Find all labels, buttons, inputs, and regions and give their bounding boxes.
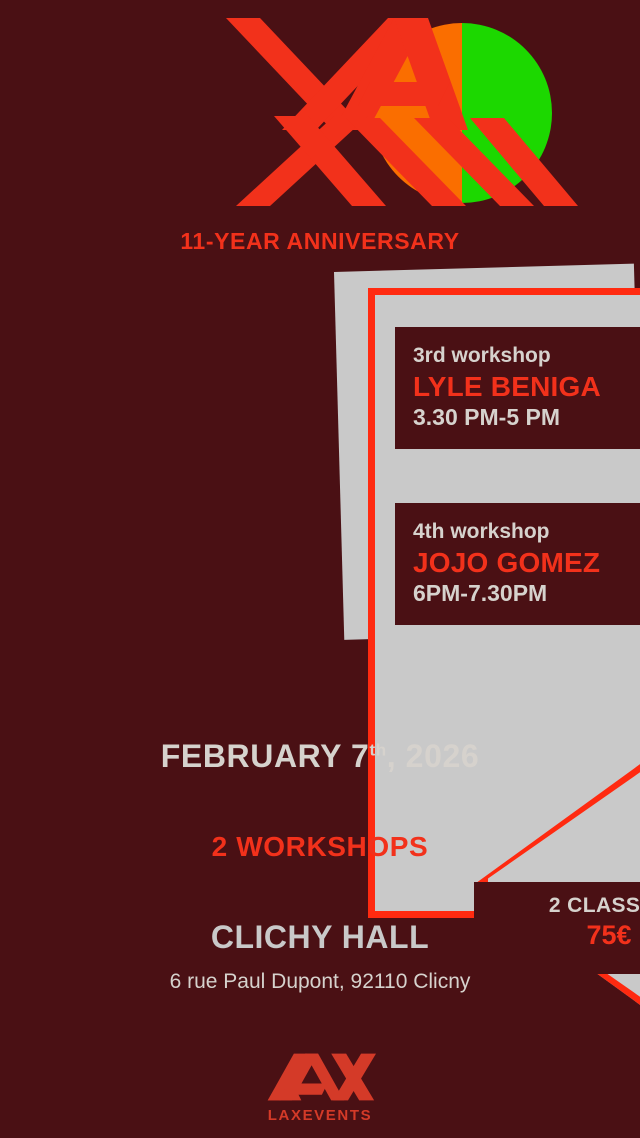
event-date-monthday: FEBRUARY 7 [161, 738, 370, 774]
venue-name: CLICHY HALL [0, 919, 640, 956]
anniversary-label: 11-YEAR ANNIVERSARY [0, 228, 640, 255]
event-info-block: FEBRUARY 7th, 2026 2 WORKSHOPS CLICHY HA… [0, 738, 640, 994]
venue-address: 6 rue Paul Dupont, 92110 Clicny [0, 970, 640, 994]
workshop-card-stack: 3rd workshop LYLE BENIGA 3.30 PM-5 PM 4t… [334, 272, 640, 647]
workshop-time: 3.30 PM-5 PM [413, 403, 640, 431]
workshop-kicker: 3rd workshop [413, 343, 640, 370]
event-poster: 11-YEAR ANNIVERSARY 3rd workshop LYLE BE… [0, 0, 640, 1138]
footer-wordmark: LAXEVENTS [0, 1107, 640, 1124]
footer-logo-block: LAXEVENTS [0, 1048, 640, 1124]
workshop-instructor: JOJO GOMEZ [413, 546, 640, 579]
workshop-kicker: 4th workshop [413, 519, 640, 546]
event-date-year: , 2026 [387, 738, 480, 774]
workshop-time: 6PM-7.30PM [413, 579, 640, 607]
lax-xi-logo-icon [218, 10, 588, 215]
workshops-count: 2 WORKSHOPS [0, 831, 640, 863]
workshop-panel-4th: 4th workshop JOJO GOMEZ 6PM-7.30PM [395, 503, 640, 625]
event-date: FEBRUARY 7th, 2026 [0, 738, 640, 775]
header-logo-block: 11-YEAR ANNIVERSARY [0, 6, 640, 256]
workshop-instructor: LYLE BENIGA [413, 370, 640, 403]
lax-events-logo-icon [264, 1048, 376, 1106]
event-date-ordinal: th [369, 740, 386, 759]
workshop-panel-3rd: 3rd workshop LYLE BENIGA 3.30 PM-5 PM [395, 327, 640, 449]
